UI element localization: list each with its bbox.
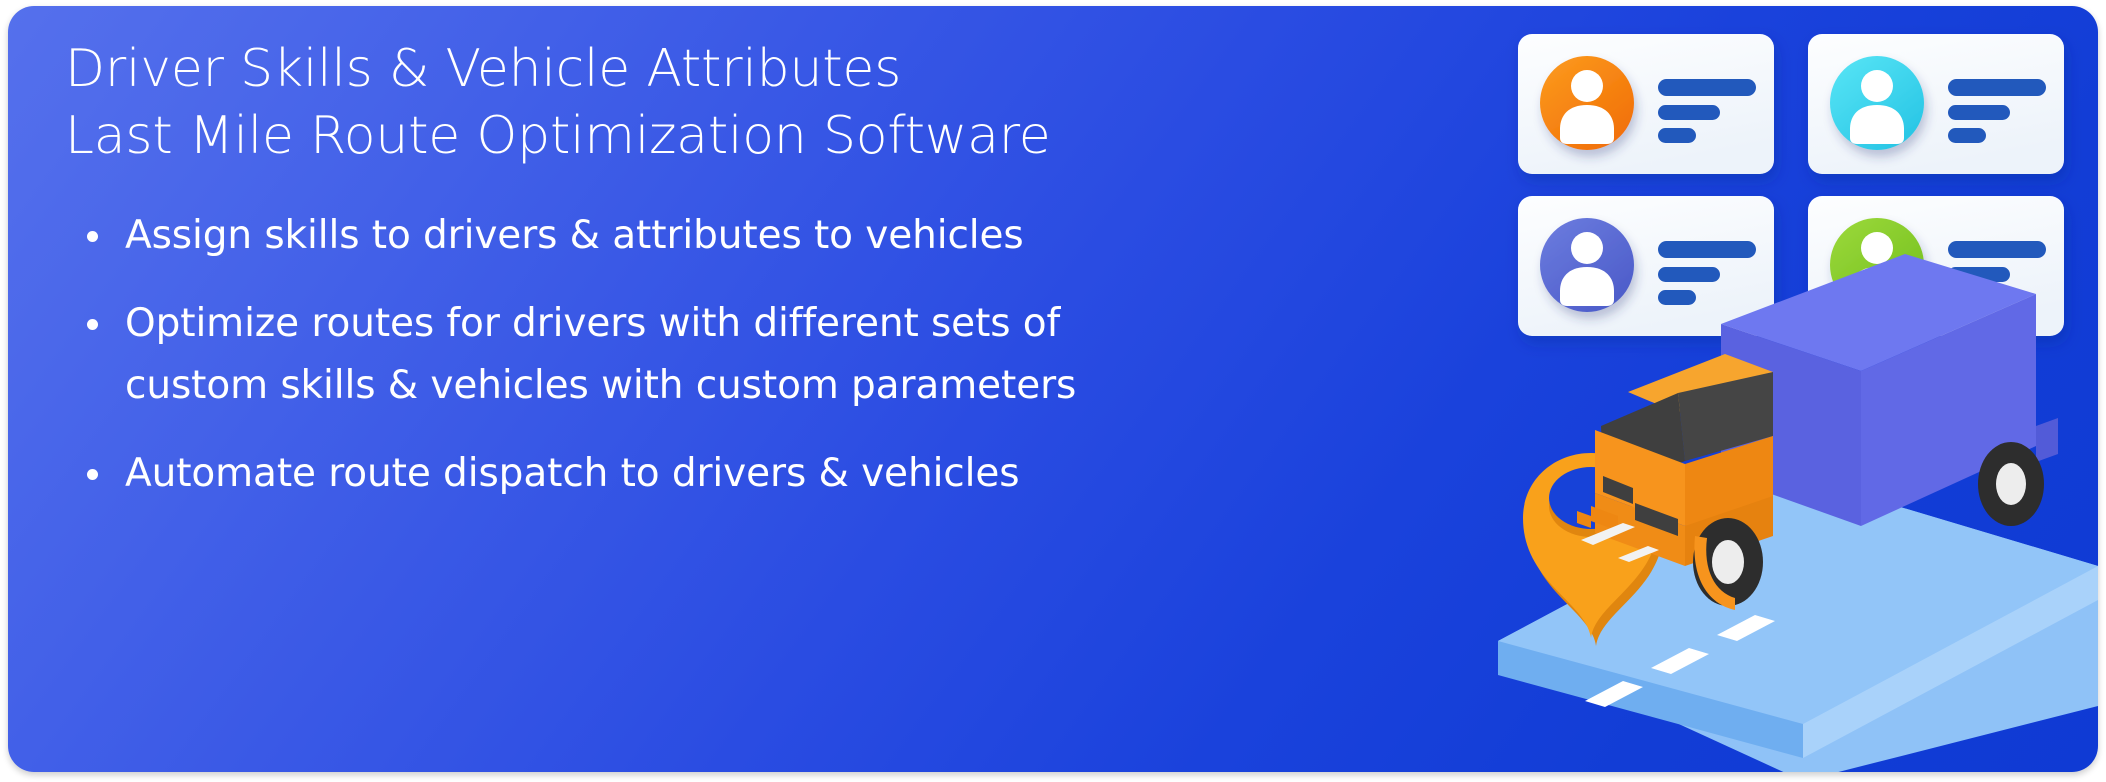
bullet-dot-icon — [87, 319, 98, 330]
bullet-dot-icon — [87, 231, 98, 242]
bullet-dot-icon — [87, 469, 98, 480]
page-title: Driver Skills & Vehicle Attributes Last … — [65, 36, 1125, 170]
list-item: Automate route dispatch to drivers & veh… — [65, 443, 1125, 505]
list-item: Optimize routes for drivers with differe… — [65, 293, 1125, 417]
illustration — [1473, 6, 2098, 772]
promo-banner: Driver Skills & Vehicle Attributes Last … — [8, 6, 2098, 772]
list-item-label: Assign skills to drivers & attributes to… — [125, 205, 1024, 267]
list-item-label: Optimize routes for drivers with differe… — [125, 293, 1076, 417]
feature-list: Assign skills to drivers & attributes to… — [65, 205, 1125, 505]
list-item: Assign skills to drivers & attributes to… — [65, 205, 1125, 267]
copy-column: Driver Skills & Vehicle Attributes Last … — [65, 36, 1125, 531]
list-item-label: Automate route dispatch to drivers & veh… — [125, 443, 1020, 505]
rear-wheel — [1978, 442, 2044, 526]
